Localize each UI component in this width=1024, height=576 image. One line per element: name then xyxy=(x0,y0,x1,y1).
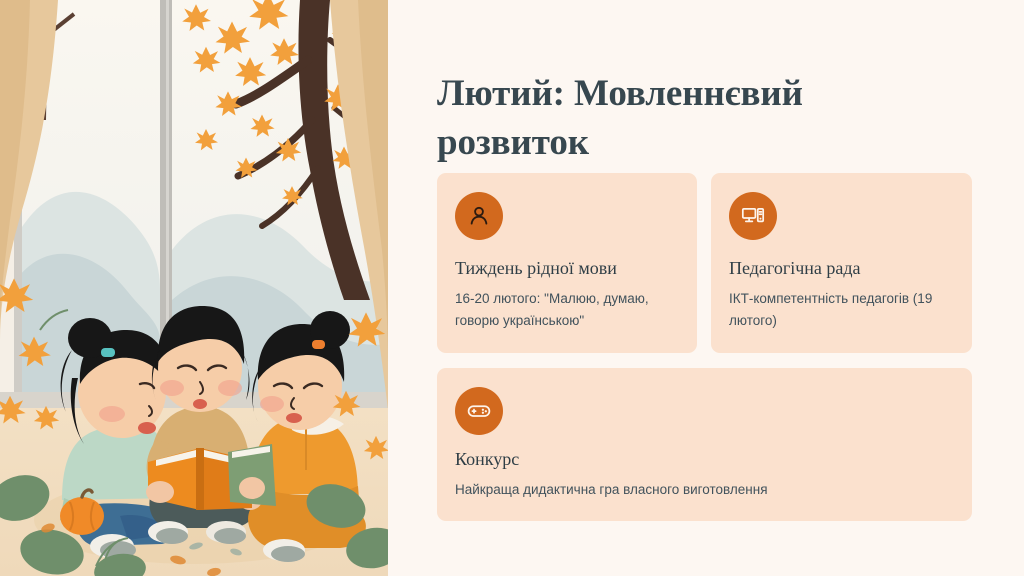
card-heading: Конкурс xyxy=(455,448,958,471)
card-body-text: ІКТ-компетентність педагогів (19 лютого) xyxy=(729,288,958,332)
card-week-of-native-language[interactable]: Тиждень рідної мови 16-20 лютого: "Малюю… xyxy=(437,173,697,353)
illustration-panel xyxy=(0,0,388,576)
card-pedagogical-council[interactable]: Педагогічна рада ІКТ-компетентність педа… xyxy=(711,173,972,353)
content-panel: Лютий: Мовленнєвий розвиток Тиждень рідн… xyxy=(388,0,1024,576)
card-body-text: Найкраща дидактична гра власного виготов… xyxy=(455,479,958,501)
page-title: Лютий: Мовленнєвий розвиток xyxy=(437,69,907,167)
gamepad-icon xyxy=(455,387,503,435)
card-body-text: 16-20 лютого: "Малюю, думаю, говорю укра… xyxy=(455,288,683,332)
card-heading: Педагогічна рада xyxy=(729,257,958,280)
card-heading: Тиждень рідної мови xyxy=(455,257,683,280)
desktop-computer-icon xyxy=(729,192,777,240)
slide-root: Лютий: Мовленнєвий розвиток Тиждень рідн… xyxy=(0,0,1024,576)
person-icon xyxy=(455,192,503,240)
card-contest[interactable]: Конкурс Найкраща дидактична гра власного… xyxy=(437,368,972,521)
